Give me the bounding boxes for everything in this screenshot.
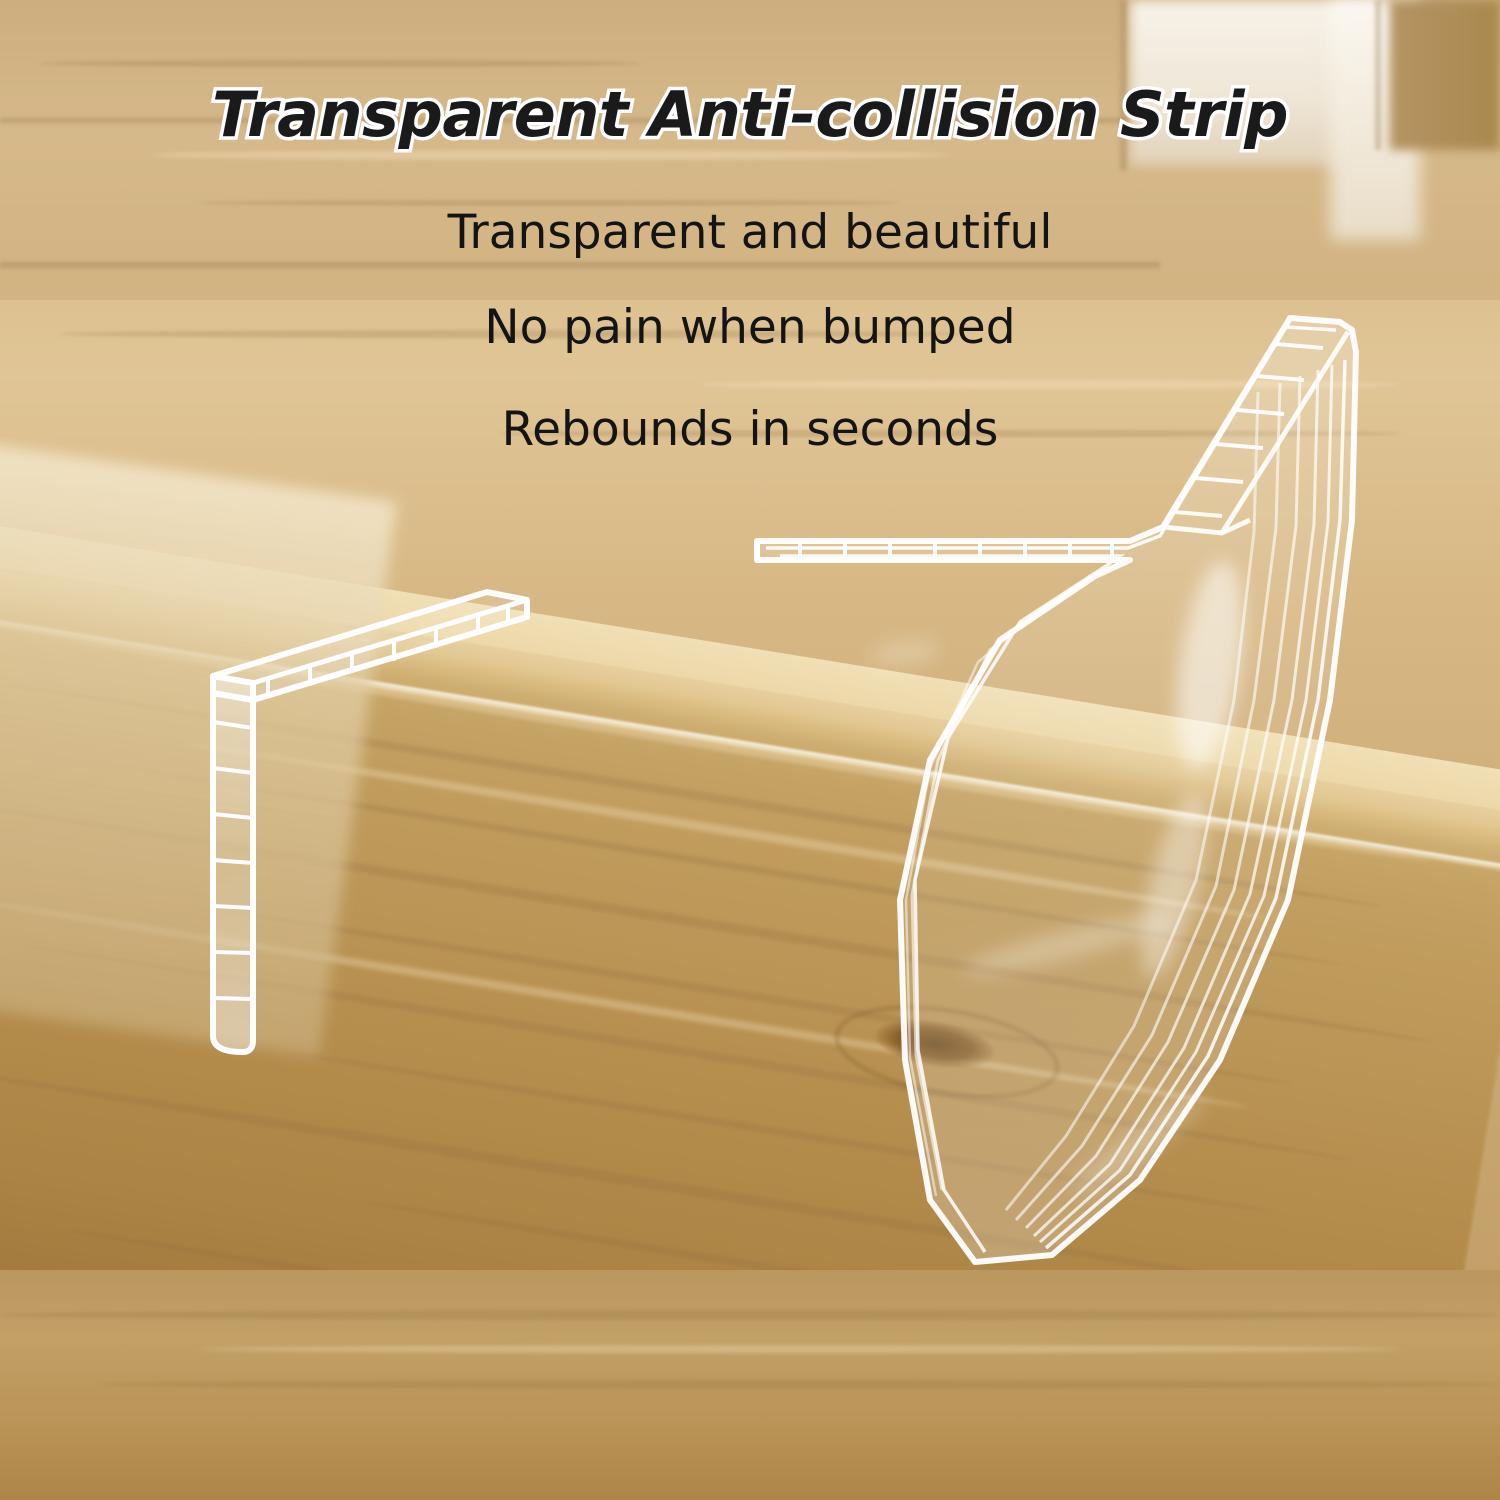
headline-text: Transparent Anti-collision Strip bbox=[0, 78, 1500, 151]
wall-plank-seam bbox=[0, 262, 1160, 268]
wood-grain-highlight bbox=[700, 380, 1400, 389]
wood-grain-highlight bbox=[150, 150, 950, 160]
product-image-scene: Transparent Anti-collision Strip Transpa… bbox=[0, 0, 1500, 1500]
wood-grain bbox=[40, 60, 640, 67]
bullet-text-2: No pain when bumped bbox=[0, 300, 1500, 355]
floor-below-step bbox=[0, 1270, 1500, 1500]
bullet-text-1: Transparent and beautiful bbox=[0, 205, 1500, 260]
bullet-text-3: Rebounds in seconds bbox=[0, 402, 1500, 457]
